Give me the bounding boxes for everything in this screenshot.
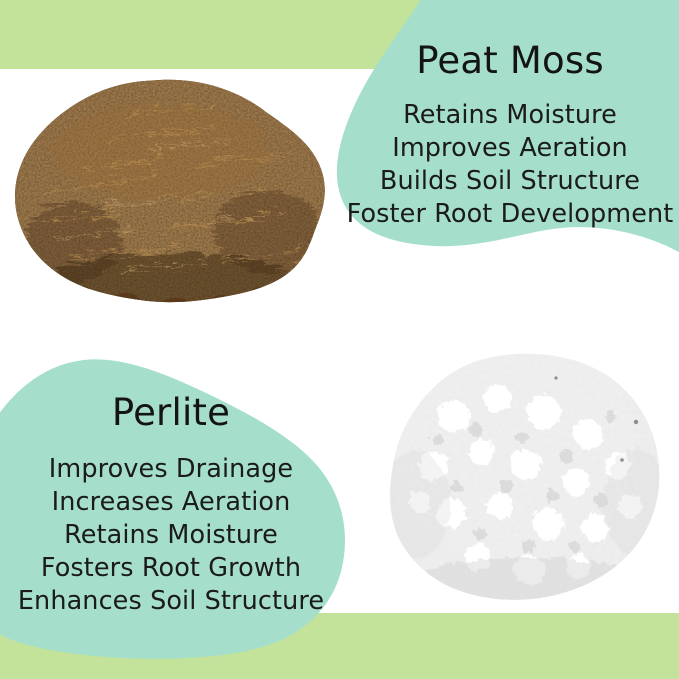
perlite-photo (388, 352, 660, 608)
benefit-item: Enhances Soil Structure (6, 585, 336, 618)
peat-moss-title: Peat Moss (345, 40, 675, 81)
benefit-item: Builds Soil Structure (345, 165, 675, 198)
perlite-benefit-list: Improves Drainage Increases Aeration Ret… (6, 453, 336, 617)
benefit-item: Retains Moisture (345, 99, 675, 132)
peat-moss-benefit-list: Retains Moisture Improves Aeration Build… (345, 99, 675, 230)
benefit-item: Increases Aeration (6, 486, 336, 519)
benefit-item: Foster Root Development (345, 198, 675, 231)
perlite-panel: Perlite Improves Drainage Increases Aera… (6, 392, 336, 617)
benefit-item: Improves Drainage (6, 453, 336, 486)
peat-moss-panel: Peat Moss Retains Moisture Improves Aera… (345, 40, 675, 231)
peat-moss-photo (8, 78, 330, 310)
benefit-item: Retains Moisture (6, 519, 336, 552)
benefit-item: Fosters Root Growth (6, 552, 336, 585)
perlite-title: Perlite (6, 392, 336, 433)
benefit-item: Improves Aeration (345, 132, 675, 165)
infographic-canvas: Peat Moss Retains Moisture Improves Aera… (0, 0, 679, 679)
